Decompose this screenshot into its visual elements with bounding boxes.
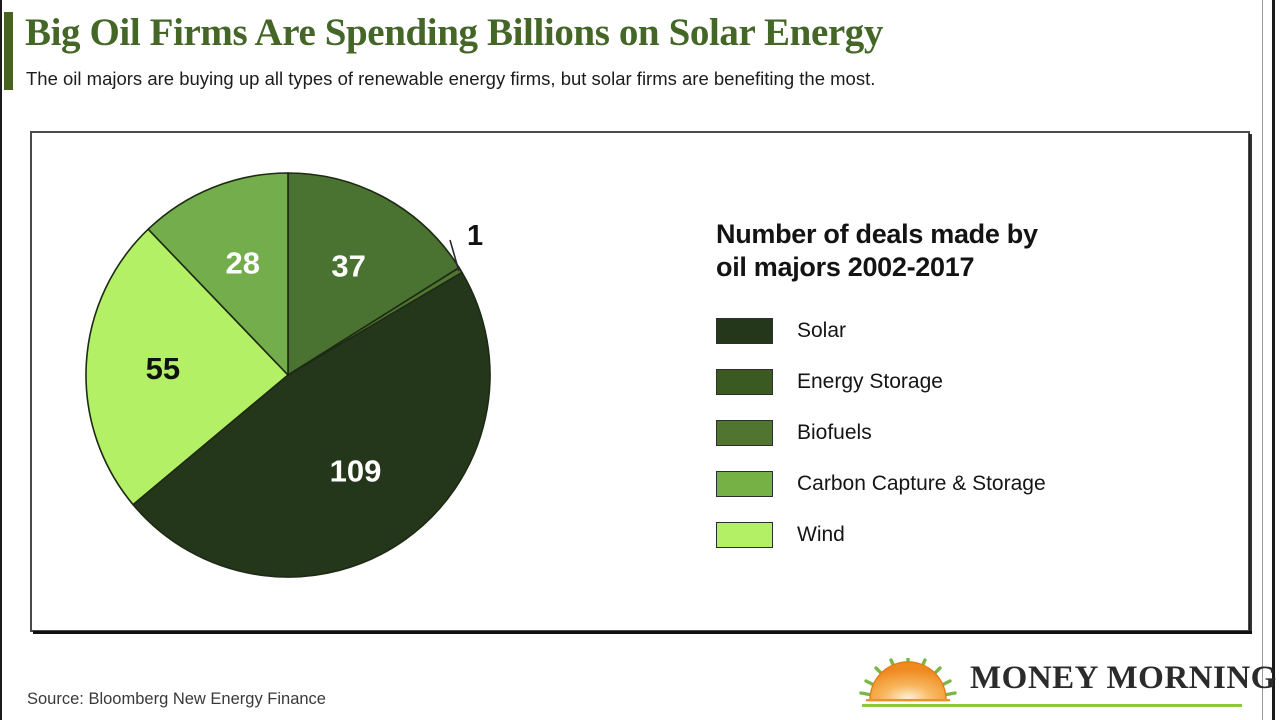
legend-swatch <box>716 369 773 395</box>
legend-item-label: Carbon Capture & Storage <box>797 472 1046 496</box>
chart-frame-shadow-right <box>1249 134 1252 632</box>
chart-frame-shadow-bottom <box>33 631 1252 634</box>
pie-callout-value-label: 1 <box>467 220 483 252</box>
legend-swatch <box>716 522 773 548</box>
legend-item-list: SolarEnergy StorageBiofuelsCarbon Captur… <box>716 305 1236 560</box>
page-border-right-inner <box>1262 0 1263 720</box>
legend-swatch <box>716 471 773 497</box>
pie-slice-value-label: 28 <box>226 246 260 281</box>
page-border-right <box>1272 0 1275 720</box>
legend-item[interactable]: Carbon Capture & Storage <box>716 458 1236 509</box>
legend-swatch <box>716 318 773 344</box>
legend-item[interactable]: Solar <box>716 305 1236 356</box>
legend-item[interactable]: Wind <box>716 509 1236 560</box>
headline-accent-bar <box>4 12 13 90</box>
legend-item-label: Solar <box>797 319 846 343</box>
brand-underline <box>862 704 1242 707</box>
legend-item-label: Wind <box>797 523 845 547</box>
source-note: Source: Bloomberg New Energy Finance <box>27 690 326 709</box>
infographic-page: Big Oil Firms Are Spending Billions on S… <box>0 0 1280 720</box>
legend-item[interactable]: Energy Storage <box>716 356 1236 407</box>
pie-slice-value-label: 37 <box>331 248 365 283</box>
pie-chart-svg: 3710955281 <box>60 148 530 618</box>
page-title: Big Oil Firms Are Spending Billions on S… <box>25 8 1225 58</box>
brand-name: MONEY MORNING <box>970 660 1277 697</box>
legend-item-label: Biofuels <box>797 421 872 445</box>
sunrise-icon <box>856 658 960 704</box>
pie-slice-value-label: 109 <box>330 454 382 489</box>
pie-chart: 3710955281 <box>60 148 530 618</box>
chart-legend: Number of deals made by oil majors 2002-… <box>716 218 1236 560</box>
page-border-left <box>0 0 2 720</box>
pie-slice-value-label: 55 <box>146 351 180 386</box>
money-morning-logo[interactable]: MONEY MORNING <box>856 658 1256 714</box>
legend-swatch <box>716 420 773 446</box>
legend-item[interactable]: Biofuels <box>716 407 1236 458</box>
legend-item-label: Energy Storage <box>797 370 943 394</box>
page-subtitle: The oil majors are buying up all types o… <box>26 67 1236 91</box>
legend-title: Number of deals made by oil majors 2002-… <box>716 218 1236 284</box>
